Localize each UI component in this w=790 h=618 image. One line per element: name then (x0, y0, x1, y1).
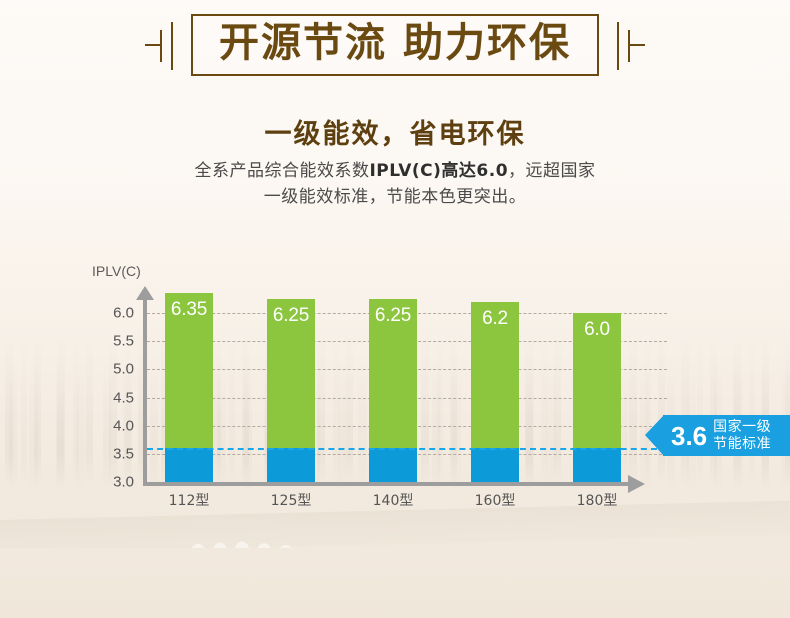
badge-label-line-2: 节能标准 (713, 436, 771, 453)
threshold-dashed-line (147, 448, 667, 450)
bar-112型: 6.35 (165, 293, 213, 482)
category-label-112型: 112型 (144, 490, 234, 510)
bar-value-label: 6.0 (573, 319, 621, 341)
y-tick-6.0: 6.0 (82, 305, 134, 322)
y-tick-5.5: 5.5 (82, 333, 134, 350)
bar-lower-segment (267, 448, 315, 482)
badge-pointer-icon (645, 415, 664, 456)
bar-lower-segment (165, 448, 213, 482)
national-standard-badge: 3.6 国家一级 节能标准 (663, 415, 790, 456)
bar-lower-segment (369, 448, 417, 482)
category-label-160型: 160型 (450, 490, 540, 510)
bar-value-label: 6.25 (267, 305, 315, 327)
y-tick-4.5: 4.5 (82, 389, 134, 406)
bar-140型: 6.25 (369, 299, 417, 482)
bar-value-label: 6.25 (369, 305, 417, 327)
y-axis-title: IPLV(C) (92, 263, 141, 279)
badge-label-line-1: 国家一级 (713, 419, 771, 436)
bar-lower-segment (573, 448, 621, 482)
y-tick-5.0: 5.0 (82, 361, 134, 378)
category-label-125型: 125型 (246, 490, 336, 510)
badge-value: 3.6 (663, 423, 713, 449)
x-axis-line (143, 482, 630, 486)
bar-125型: 6.25 (267, 299, 315, 482)
badge-label: 国家一级 节能标准 (713, 419, 771, 453)
bar-180型: 6.0 (573, 313, 621, 482)
y-tick-3.5: 3.5 (82, 445, 134, 462)
y-axis-line (143, 296, 147, 484)
bar-160型: 6.2 (471, 302, 519, 482)
y-tick-4.0: 4.0 (82, 417, 134, 434)
y-tick-3.0: 3.0 (82, 474, 134, 491)
category-label-140型: 140型 (348, 490, 438, 510)
bar-value-label: 6.2 (471, 308, 519, 330)
bar-value-label: 6.35 (165, 299, 213, 321)
category-label-180型: 180型 (552, 490, 642, 510)
bar-lower-segment (471, 448, 519, 482)
efficiency-bar-chart: IPLV(C) 6.05.55.04.54.03.53.0 6.356.256.… (0, 0, 790, 618)
